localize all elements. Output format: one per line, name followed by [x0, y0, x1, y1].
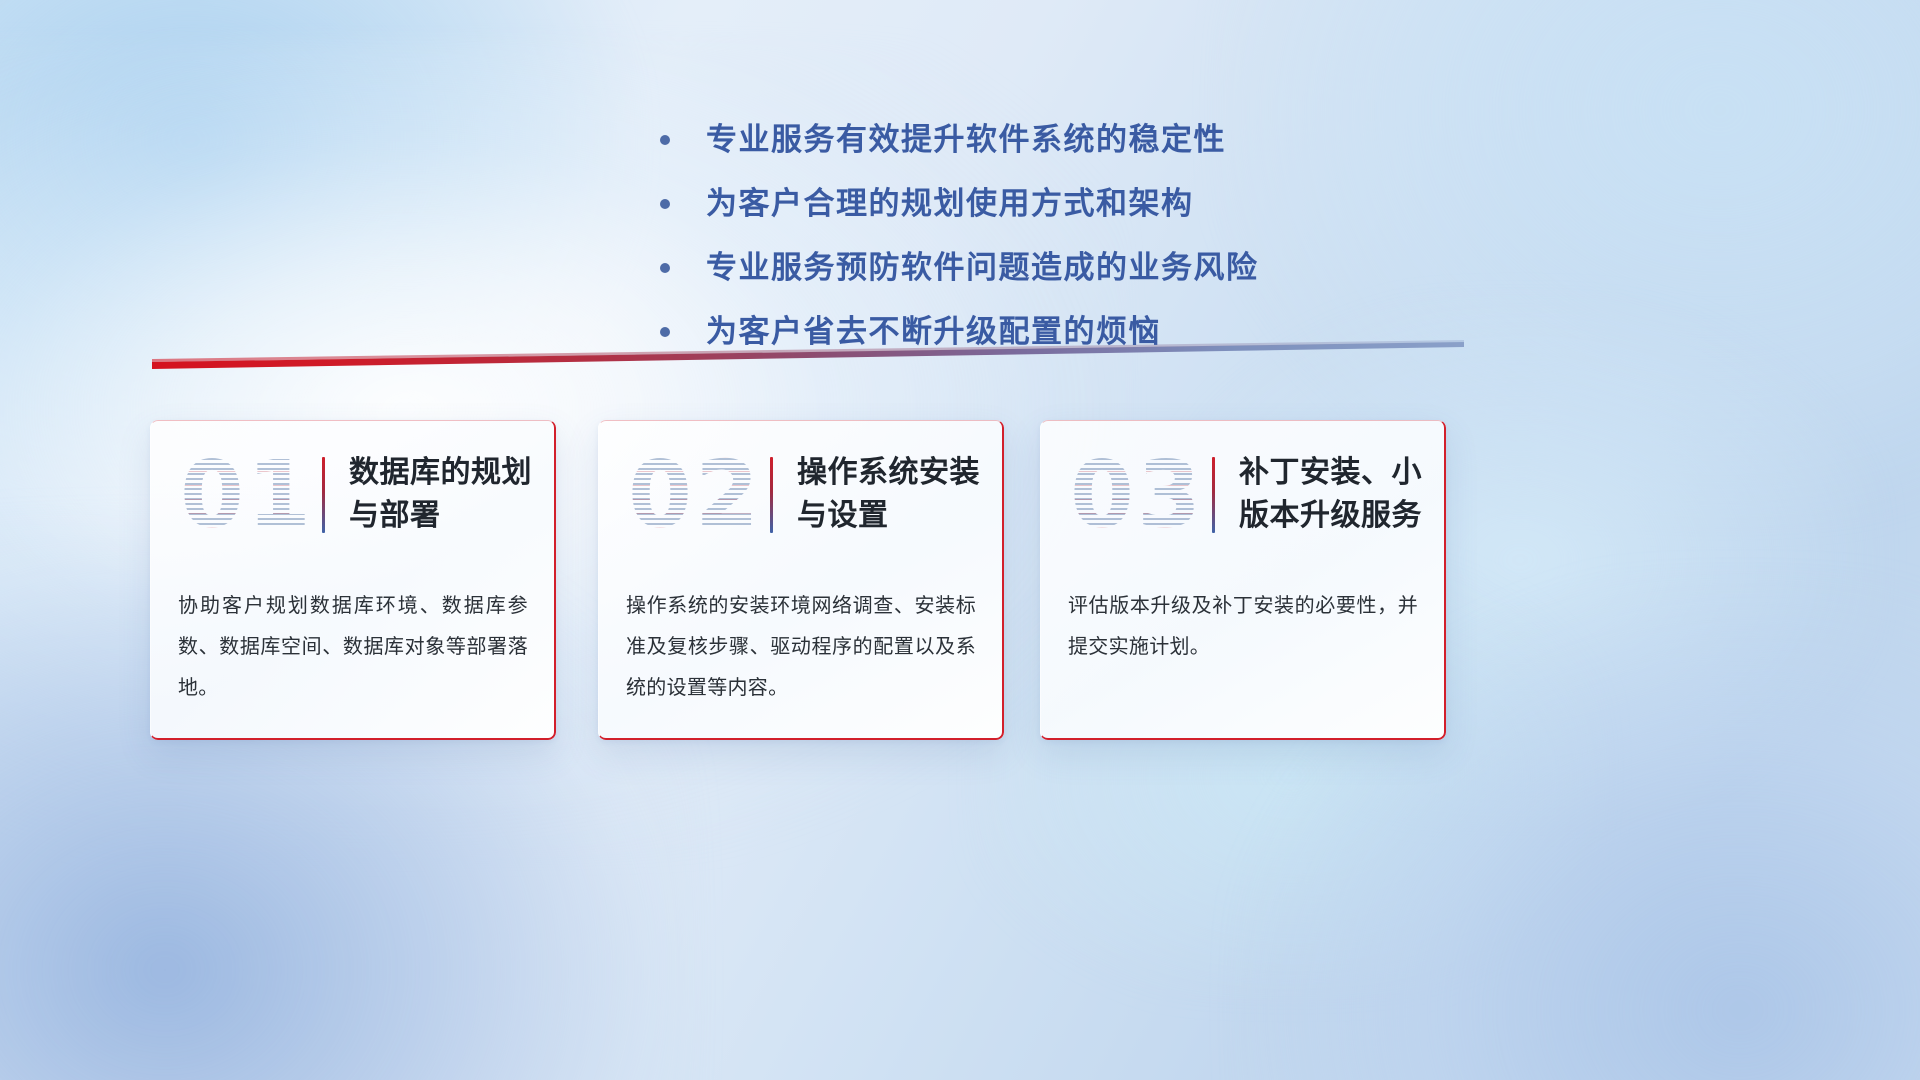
accent-rule: [322, 457, 325, 533]
service-card-header: 02 02 操作系统安装与设置: [598, 420, 1004, 570]
service-card-title: 数据库的规划与部署: [349, 452, 556, 537]
service-card-title: 操作系统安装与设置: [797, 452, 1004, 537]
bullet-dot-icon: [660, 199, 670, 209]
service-card-list: 01 01 数据库的规划与部署 协助客户规划数据库环境、数据库参数、数据库空间、…: [150, 420, 1460, 742]
bullet-label: 专业服务预防软件问题造成的业务风险: [706, 249, 1259, 286]
service-card-number-watermark: 01 01: [180, 443, 308, 547]
service-card[interactable]: 02 02 操作系统安装与设置 操作系统的安装环境网络调查、安装标准及复核步骤、…: [598, 420, 1004, 740]
bullet-label: 为客户省去不断升级配置的烦恼: [706, 313, 1161, 350]
service-card-number-watermark: 02 02: [628, 443, 756, 547]
bullet-item: 为客户合理的规划使用方式和架构: [660, 172, 1480, 236]
service-card[interactable]: 03 03 补丁安装、小版本升级服务 评估版本升级及补丁安装的必要性，并提交实施…: [1040, 420, 1446, 740]
bullet-dot-icon: [660, 327, 670, 337]
bullet-label: 专业服务有效提升软件系统的稳定性: [706, 121, 1226, 158]
service-card-description: 协助客户规划数据库环境、数据库参数、数据库空间、数据库对象等部署落地。: [150, 570, 556, 709]
service-card-header: 01 01 数据库的规划与部署: [150, 420, 556, 570]
bullet-item: 为客户省去不断升级配置的烦恼: [660, 300, 1480, 364]
bullet-dot-icon: [660, 135, 670, 145]
bullet-item: 专业服务预防软件问题造成的业务风险: [660, 236, 1480, 300]
service-card-header: 03 03 补丁安装、小版本升级服务: [1040, 420, 1446, 570]
service-card[interactable]: 01 01 数据库的规划与部署 协助客户规划数据库环境、数据库参数、数据库空间、…: [150, 420, 556, 740]
service-card-description: 评估版本升级及补丁安装的必要性，并提交实施计划。: [1040, 570, 1446, 668]
slide-canvas: 专业服务有效提升软件系统的稳定性 为客户合理的规划使用方式和架构 专业服务预防软…: [0, 0, 1920, 1080]
accent-rule: [1212, 457, 1215, 533]
service-card-title: 补丁安装、小版本升级服务: [1239, 452, 1446, 537]
accent-rule: [770, 457, 773, 533]
service-card-number-overlay: 01: [180, 443, 308, 547]
bullet-item: 专业服务有效提升软件系统的稳定性: [660, 108, 1480, 172]
service-card-number-overlay: 02: [628, 443, 756, 547]
service-card-number-overlay: 03: [1070, 443, 1198, 547]
benefits-bullet-list: 专业服务有效提升软件系统的稳定性 为客户合理的规划使用方式和架构 专业服务预防软…: [660, 108, 1480, 364]
service-card-number-watermark: 03 03: [1070, 443, 1198, 547]
bullet-label: 为客户合理的规划使用方式和架构: [706, 185, 1194, 222]
bullet-dot-icon: [660, 263, 670, 273]
service-card-description: 操作系统的安装环境网络调查、安装标准及复核步骤、驱动程序的配置以及系统的设置等内…: [598, 570, 1004, 709]
